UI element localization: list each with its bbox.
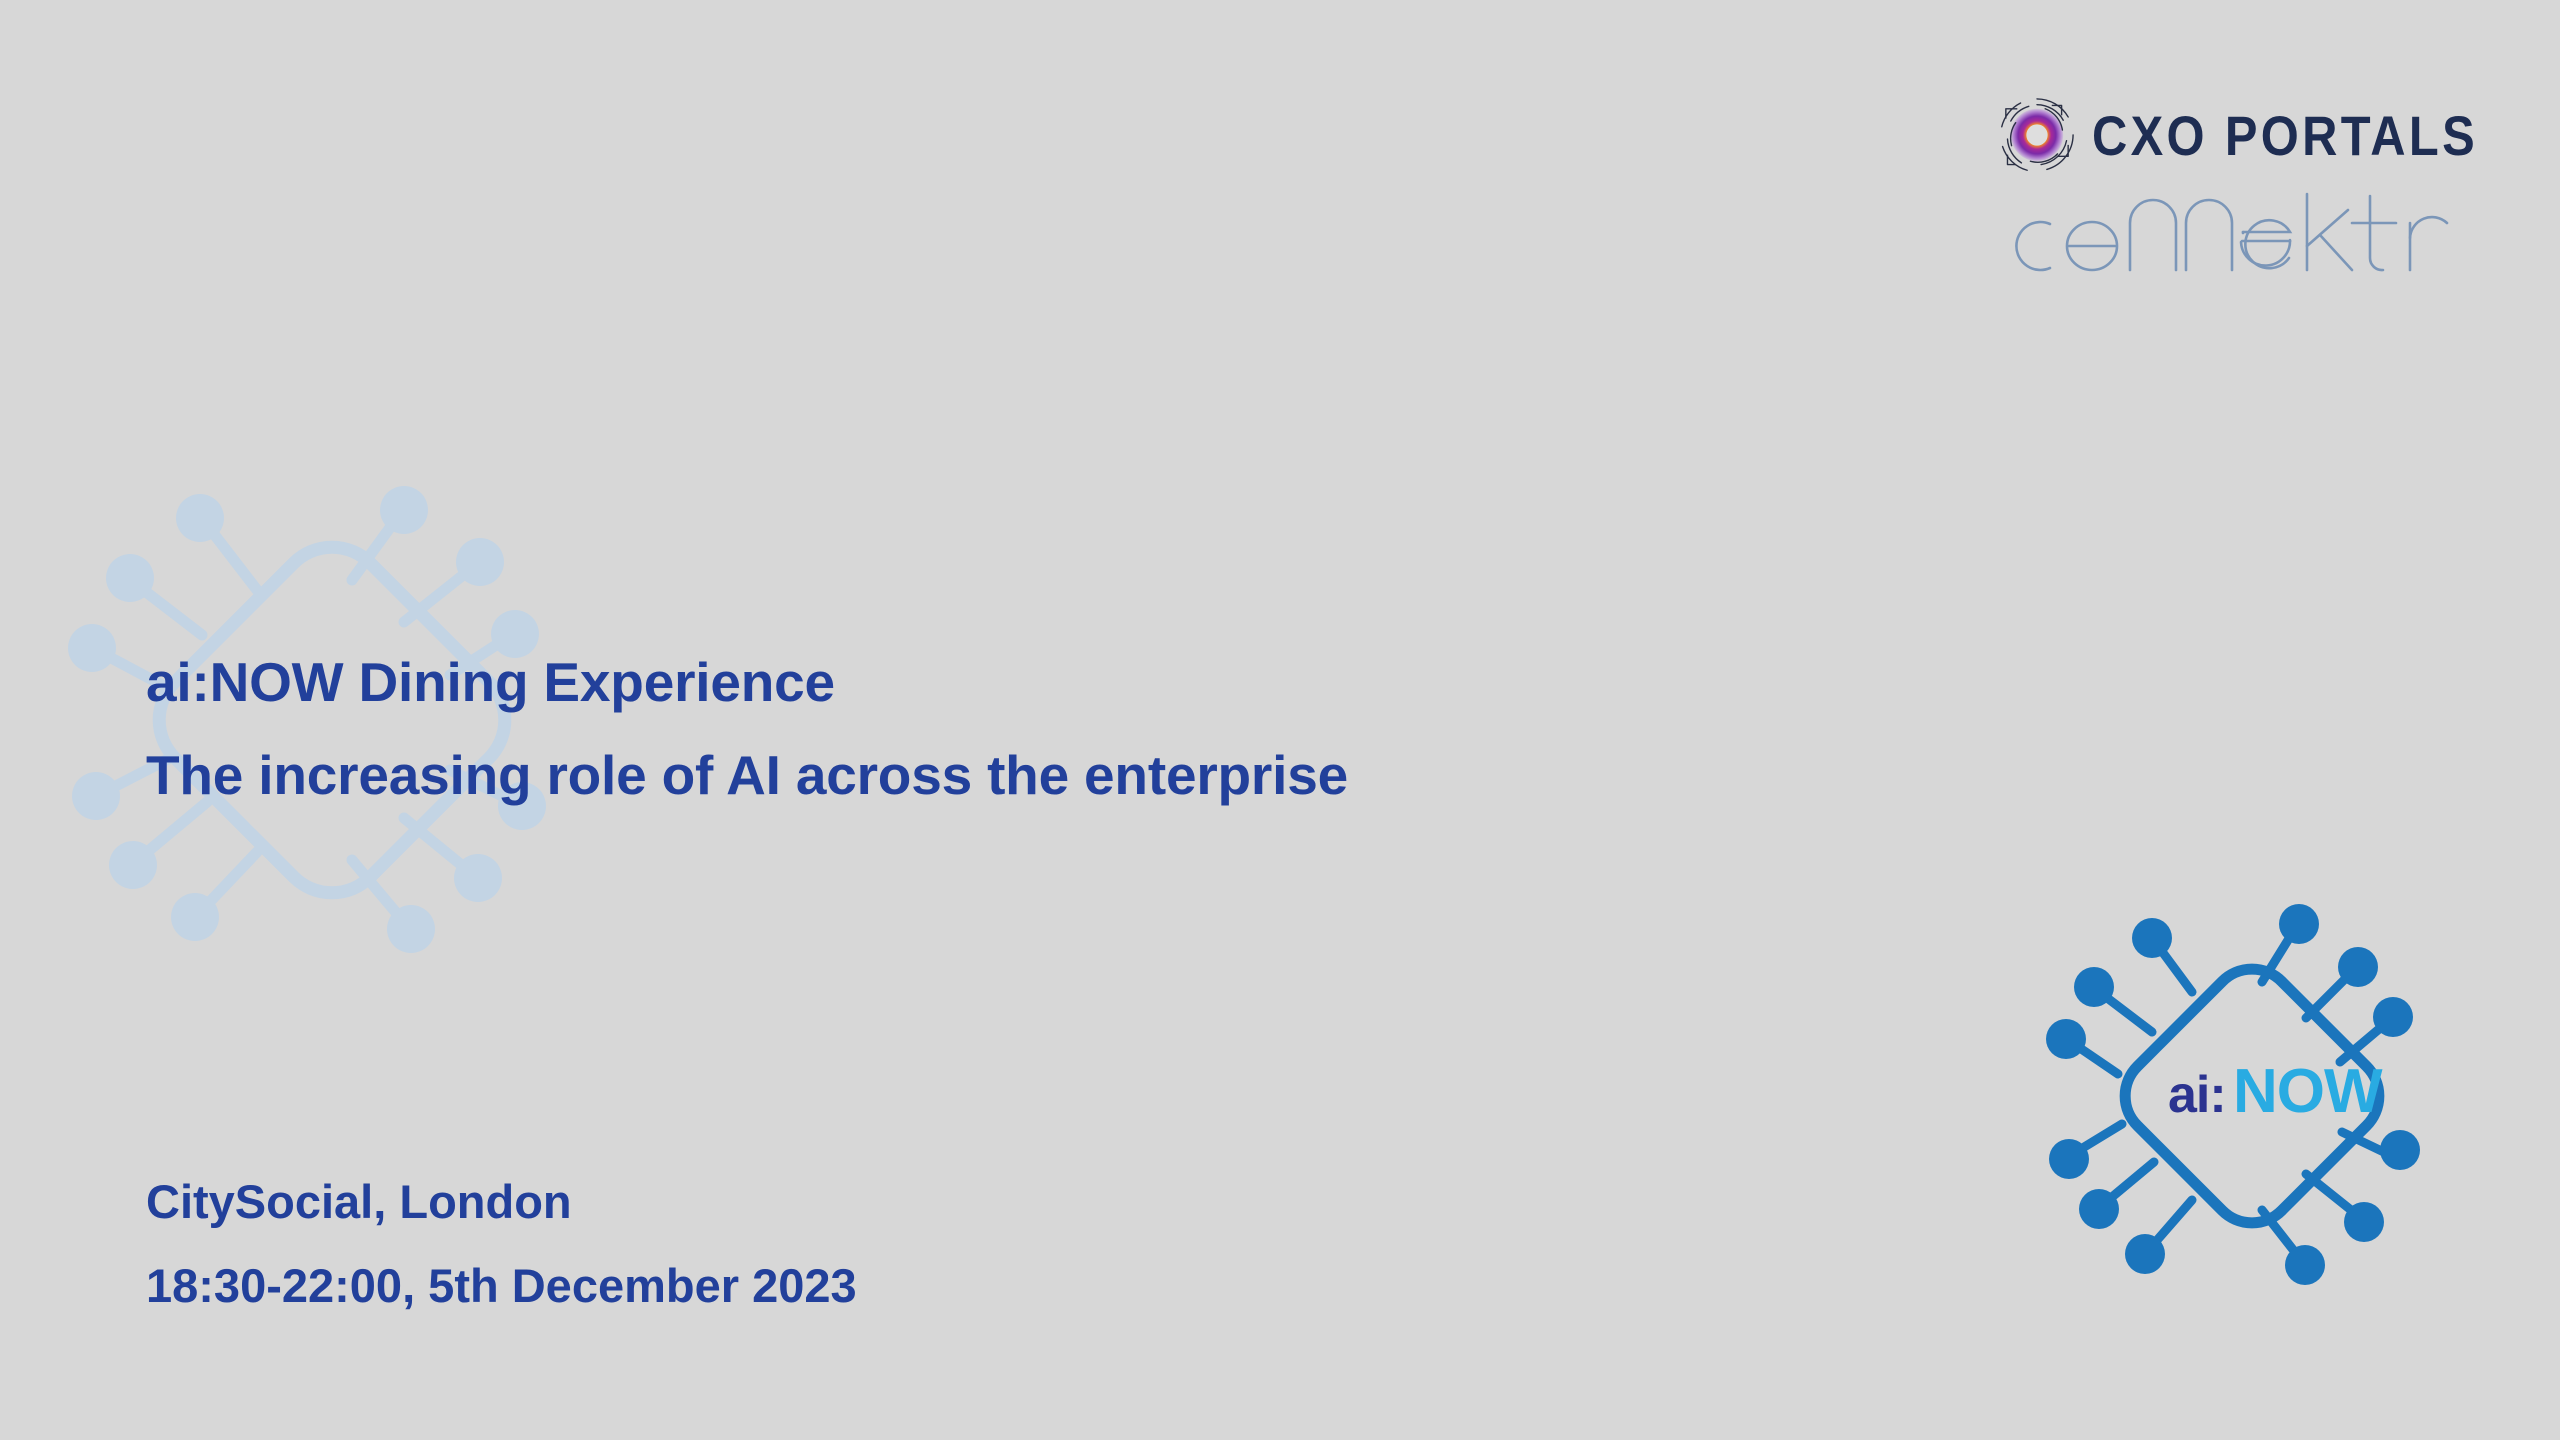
event-venue: CitySocial, London bbox=[146, 1160, 1546, 1244]
cxo-portals-wordmark: CXO PORTALS bbox=[2092, 107, 2478, 162]
title-line-2: The increasing role of AI across the ent… bbox=[146, 729, 1946, 822]
title-line-1: ai:NOW Dining Experience bbox=[146, 636, 1946, 729]
cxo-portals-lockup: CXO PORTALS bbox=[1996, 92, 2456, 178]
event-details: CitySocial, London 18:30-22:00, 5th Dece… bbox=[146, 1160, 1546, 1328]
ai-now-prefix: ai: bbox=[2168, 1066, 2226, 1124]
cxo-portals-orb-icon bbox=[1996, 94, 2078, 176]
ai-now-chip-icon: ai: NOW bbox=[2040, 884, 2464, 1308]
event-invitation-slide: ai:NOW Dining Experience The increasing … bbox=[0, 0, 2560, 1440]
connektr-wordmark bbox=[2000, 190, 2452, 282]
ai-now-suffix: NOW bbox=[2233, 1057, 2383, 1126]
event-datetime: 18:30-22:00, 5th December 2023 bbox=[146, 1244, 1546, 1328]
brand-lockup: CXO PORTALS bbox=[1996, 92, 2456, 292]
page-title: ai:NOW Dining Experience The increasing … bbox=[146, 636, 1946, 822]
